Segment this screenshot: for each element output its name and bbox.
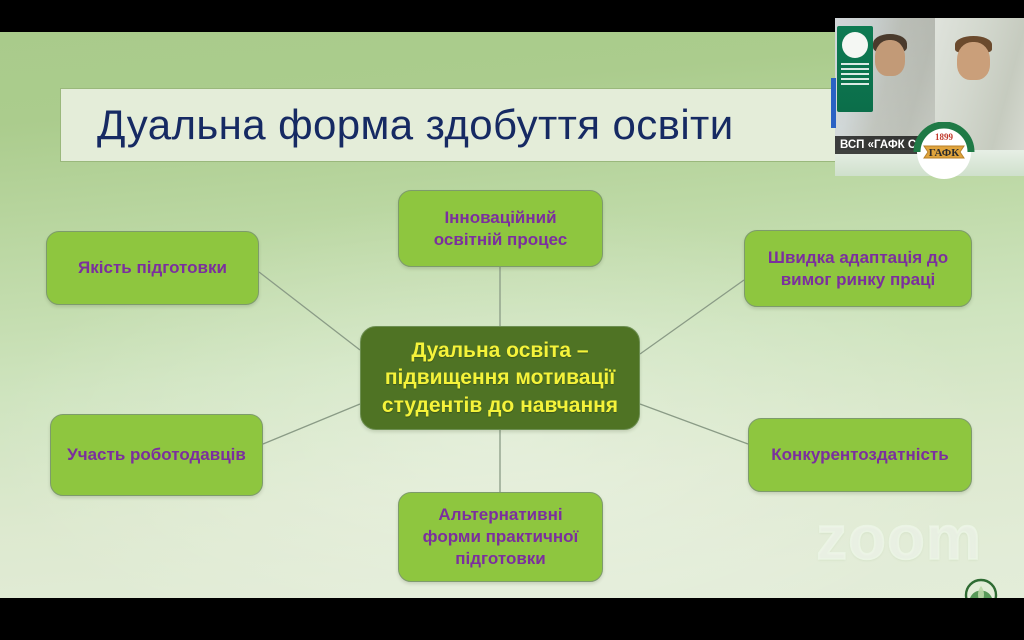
- connector-bottom-right: [640, 404, 748, 444]
- poster-disc: [842, 32, 868, 58]
- strip-edge-sliver: [831, 78, 836, 128]
- zoom-watermark: zoom: [816, 503, 982, 574]
- crest-name: ГАФК: [929, 147, 959, 159]
- poster-lines: [841, 63, 869, 85]
- connector-top-left: [259, 272, 360, 350]
- wall-poster: [837, 26, 873, 112]
- diagram-center-node: Дуальна освіта – підвищення мотивації ст…: [360, 326, 640, 430]
- diagram-node-fast-adaptation: Швидка адаптація до вимог ринку праці: [744, 230, 972, 307]
- diagram-node-innovative-process: Інноваційний освітній процес: [398, 190, 603, 267]
- diagram-node-competitiveness: Конкурентоздатність: [748, 418, 972, 492]
- student-head: [957, 42, 990, 80]
- slide-title-box: Дуальна форма здобуття освіти: [60, 88, 965, 162]
- diagram-node-employer-participation: Участь роботодавців: [50, 414, 263, 496]
- connector-bottom-left: [263, 404, 360, 444]
- gafk-crest-logo: ГАФК 1899: [898, 122, 990, 180]
- connector-top-right: [640, 280, 744, 354]
- corner-emblem-icon: [960, 574, 1002, 598]
- presenter-head: [875, 40, 905, 76]
- zoom-screen-share: Дуальна форма здобуття освіти Дуальна ос…: [0, 0, 1024, 640]
- diagram-node-quality-of-training: Якість підготовки: [46, 231, 259, 305]
- crest-year: 1899: [935, 132, 954, 142]
- diagram-node-alternative-practice-forms: Альтернативні форми практичної підготовк…: [398, 492, 603, 582]
- slide-title: Дуальна форма здобуття освіти: [97, 101, 734, 149]
